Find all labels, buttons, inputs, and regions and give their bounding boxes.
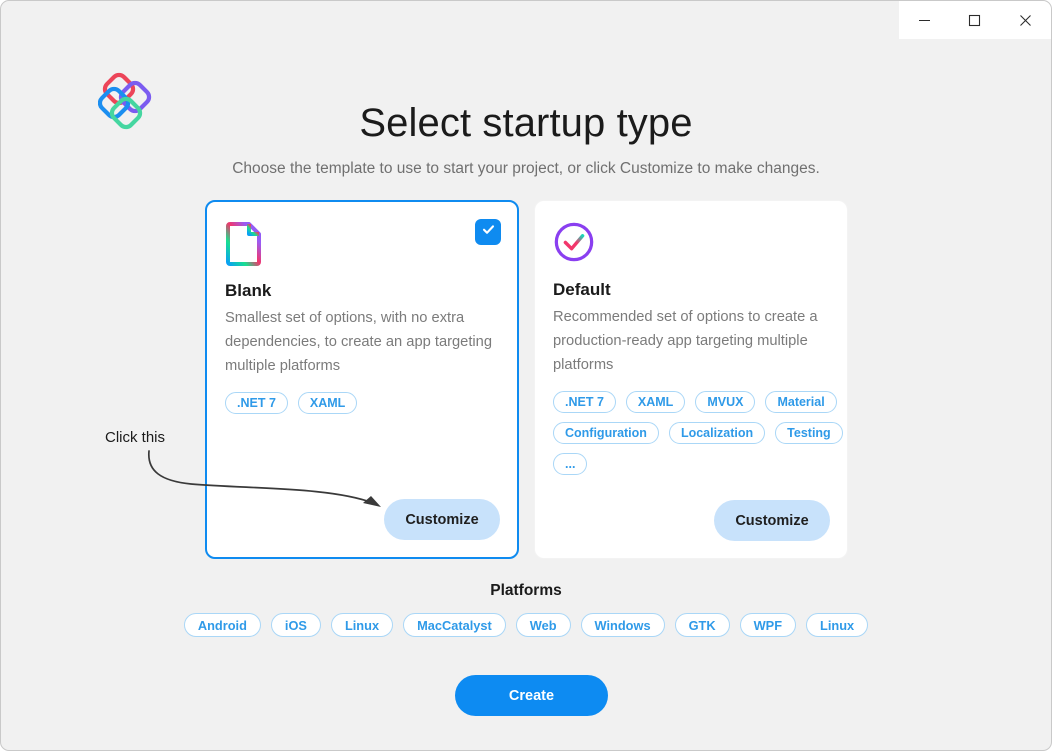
card-tag-list: .NET 7 XAML MVUX Material Configuration … xyxy=(553,391,843,475)
platform-chip: iOS xyxy=(271,613,321,637)
document-icon xyxy=(225,220,267,266)
tag-chip: Testing xyxy=(775,422,843,444)
annotation-label: Click this xyxy=(105,429,165,446)
tag-chip: Localization xyxy=(669,422,765,444)
platform-chip: WPF xyxy=(740,613,796,637)
platform-chip: Android xyxy=(184,613,261,637)
close-button[interactable] xyxy=(1000,1,1051,39)
tag-chip: Material xyxy=(765,391,836,413)
card-title: Default xyxy=(553,280,611,300)
maximize-button[interactable] xyxy=(950,1,1001,39)
tag-chip: .NET 7 xyxy=(553,391,616,413)
card-description: Recommended set of options to create a p… xyxy=(553,305,841,377)
card-description: Smallest set of options, with no extra d… xyxy=(225,306,500,378)
card-title: Blank xyxy=(225,281,271,301)
platforms-title: Platforms xyxy=(1,582,1051,600)
startup-type-card-blank[interactable]: Blank Smallest set of options, with no e… xyxy=(205,200,519,559)
check-icon xyxy=(481,222,496,242)
tag-chip: MVUX xyxy=(695,391,755,413)
customize-button-default[interactable]: Customize xyxy=(714,500,830,541)
platform-chip: GTK xyxy=(675,613,730,637)
startup-type-card-default[interactable]: Default Recommended set of options to cr… xyxy=(534,200,848,559)
platform-chip: Windows xyxy=(581,613,665,637)
tag-chip: Configuration xyxy=(553,422,659,444)
platform-chip: Web xyxy=(516,613,571,637)
platform-chip: MacCatalyst xyxy=(403,613,506,637)
customize-button-blank[interactable]: Customize xyxy=(384,499,500,540)
close-icon xyxy=(1019,14,1032,27)
card-selected-checkbox[interactable] xyxy=(475,219,501,245)
page-title: Select startup type xyxy=(1,101,1051,146)
tag-chip: .NET 7 xyxy=(225,392,288,414)
create-button[interactable]: Create xyxy=(455,675,608,716)
minimize-icon xyxy=(918,14,931,27)
title-bar xyxy=(899,1,1051,39)
platform-chip-list: Android iOS Linux MacCatalyst Web Window… xyxy=(1,613,1051,637)
card-tag-list: .NET 7 XAML xyxy=(225,392,515,414)
app-window: Select startup type Choose the template … xyxy=(0,0,1052,751)
tag-chip-more[interactable]: ... xyxy=(553,453,587,475)
platform-chip: Linux xyxy=(331,613,393,637)
circle-check-icon xyxy=(553,219,595,265)
tag-chip: XAML xyxy=(626,391,685,413)
page-subtitle: Choose the template to use to start your… xyxy=(1,160,1051,178)
minimize-button[interactable] xyxy=(899,1,950,39)
tag-chip: XAML xyxy=(298,392,357,414)
maximize-icon xyxy=(968,14,981,27)
platform-chip: Linux xyxy=(806,613,868,637)
